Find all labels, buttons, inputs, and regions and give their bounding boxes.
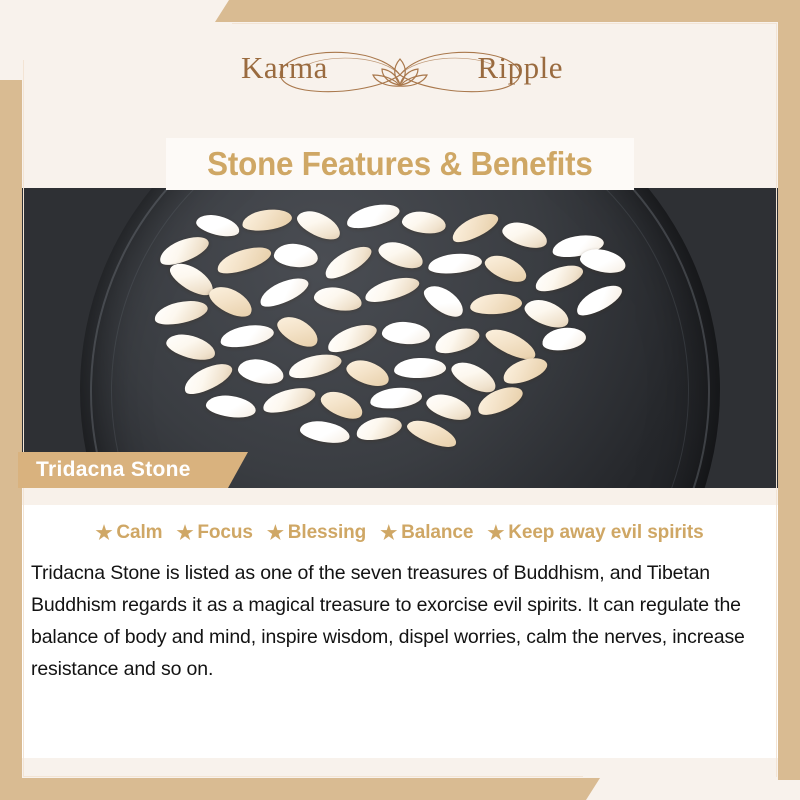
- brand-logo: Karma Ripple: [235, 44, 565, 106]
- frame-border-bottom: [0, 778, 600, 800]
- star-icon: ★: [267, 524, 284, 543]
- star-icon: ★: [380, 524, 397, 543]
- cream-divider-strip: [18, 488, 781, 505]
- benefit-item-balance: ★ Balance: [380, 522, 473, 544]
- brand-name-right: Ripple: [477, 50, 563, 86]
- page-title: Stone Features & Benefits: [207, 145, 592, 183]
- benefit-label: Calm: [116, 522, 162, 544]
- frame-border-top: [215, 0, 800, 22]
- benefit-item-focus: ★ Focus: [176, 522, 252, 544]
- benefit-item-keep-away-evil-spirits: ★ Keep away evil spirits: [487, 522, 703, 544]
- benefit-item-calm: ★ Calm: [95, 522, 162, 544]
- product-photo: [18, 188, 781, 488]
- star-icon: ★: [487, 524, 504, 543]
- benefit-label: Focus: [197, 522, 252, 544]
- brand-name-left: Karma: [241, 50, 328, 86]
- star-icon: ★: [176, 524, 193, 543]
- benefit-item-blessing: ★ Blessing: [267, 522, 366, 544]
- frame-hairline-top: [232, 23, 777, 24]
- stone-description: Tridacna Stone is listed as one of the s…: [31, 557, 771, 685]
- title-banner-box: Stone Features & Benefits: [166, 138, 634, 190]
- frame-hairline-right: [776, 23, 777, 777]
- frame-hairline-left: [23, 60, 24, 777]
- benefit-label: Keep away evil spirits: [508, 522, 703, 544]
- content-panel: ★ Calm ★ Focus ★ Blessing ★ Balance ★ Ke…: [18, 505, 781, 758]
- benefit-keyword-list: ★ Calm ★ Focus ★ Blessing ★ Balance ★ Ke…: [18, 522, 781, 544]
- stone-pile: [150, 210, 650, 460]
- stone-name-text: Tridacna Stone: [18, 458, 191, 482]
- benefit-label: Balance: [401, 522, 473, 544]
- star-icon: ★: [95, 524, 112, 543]
- stone-name-label: Tridacna Stone: [18, 452, 248, 488]
- benefit-label: Blessing: [288, 522, 366, 544]
- frame-hairline-bottom: [23, 776, 583, 777]
- frame-border-left: [0, 80, 22, 800]
- frame-border-right: [778, 0, 800, 780]
